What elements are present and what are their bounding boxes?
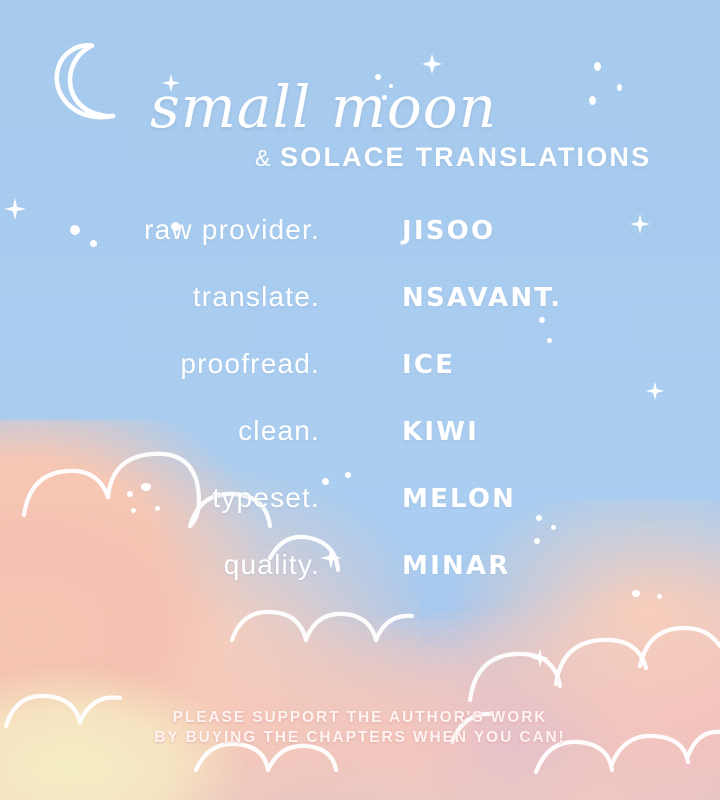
credit-name: KIWI (402, 417, 479, 447)
sparkle-dot (536, 515, 542, 521)
sparkle-dot (141, 483, 151, 491)
credits-page: small moon & SOLACE TRANSLATIONS raw pro… (0, 0, 720, 800)
star-icon (160, 72, 182, 94)
credit-label: typeset. (0, 482, 320, 514)
credit-row: raw provider. JISOO (0, 214, 720, 281)
star-icon (318, 545, 344, 571)
credit-name: ICE (402, 350, 455, 380)
credits-list: raw provider. JISOO translate. NSAVANT. … (0, 214, 720, 616)
star-icon (420, 52, 444, 76)
crescent-moon-icon (48, 42, 136, 130)
sparkle-dot (389, 84, 393, 88)
sparkle-dot (657, 594, 662, 599)
footer-line-2: BY BUYING THE CHAPTERS WHEN YOU CAN! (0, 728, 720, 748)
sparkle-dot (131, 508, 136, 513)
sparkle-dot (127, 491, 133, 497)
credit-name: NSAVANT. (402, 283, 562, 313)
credit-label: translate. (0, 281, 320, 313)
credit-name: MINAR (402, 551, 510, 581)
sparkle-dot (594, 62, 601, 71)
credit-label: proofread. (0, 348, 320, 380)
brand-script-title: small moon (150, 78, 497, 136)
credit-row: translate. NSAVANT. (0, 281, 720, 348)
sparkle-dot (375, 74, 381, 80)
credit-label: clean. (0, 415, 320, 447)
sparkle-dot (155, 506, 160, 511)
credit-label: quality. (0, 549, 320, 581)
sparkle-dot (589, 96, 596, 105)
sparkle-dot (90, 240, 97, 247)
sparkle-dot (382, 95, 387, 100)
credit-row: quality. MINAR (0, 549, 720, 616)
sparkle-dot (345, 472, 351, 478)
sparkle-dot (551, 525, 556, 530)
credit-row: typeset. MELON (0, 482, 720, 549)
star-icon (628, 212, 652, 236)
credit-row: clean. KIWI (0, 415, 720, 482)
footer-line-1: PLEASE SUPPORT THE AUTHOR'S WORK (0, 708, 720, 728)
credit-name: JISOO (402, 216, 495, 246)
sparkle-dot (539, 317, 545, 323)
sparkle-dot (547, 338, 552, 343)
credit-row: proofread. ICE (0, 348, 720, 415)
sparkle-dot (171, 222, 180, 231)
sparkle-dot (632, 590, 640, 597)
sparkle-dot (534, 538, 540, 544)
star-icon (529, 647, 551, 669)
credit-label: raw provider. (0, 214, 320, 246)
sparkle-dot (617, 84, 622, 91)
brand-subtitle-text: SOLACE TRANSLATIONS (280, 142, 651, 172)
brand-subtitle: & SOLACE TRANSLATIONS (255, 142, 651, 173)
ampersand: & (255, 145, 270, 171)
sparkle-dot (322, 478, 329, 485)
sparkle-dot (70, 225, 80, 235)
credit-name: MELON (402, 484, 516, 514)
star-icon (644, 380, 666, 402)
star-icon (2, 196, 28, 222)
footer-support-message: PLEASE SUPPORT THE AUTHOR'S WORK BY BUYI… (0, 708, 720, 749)
